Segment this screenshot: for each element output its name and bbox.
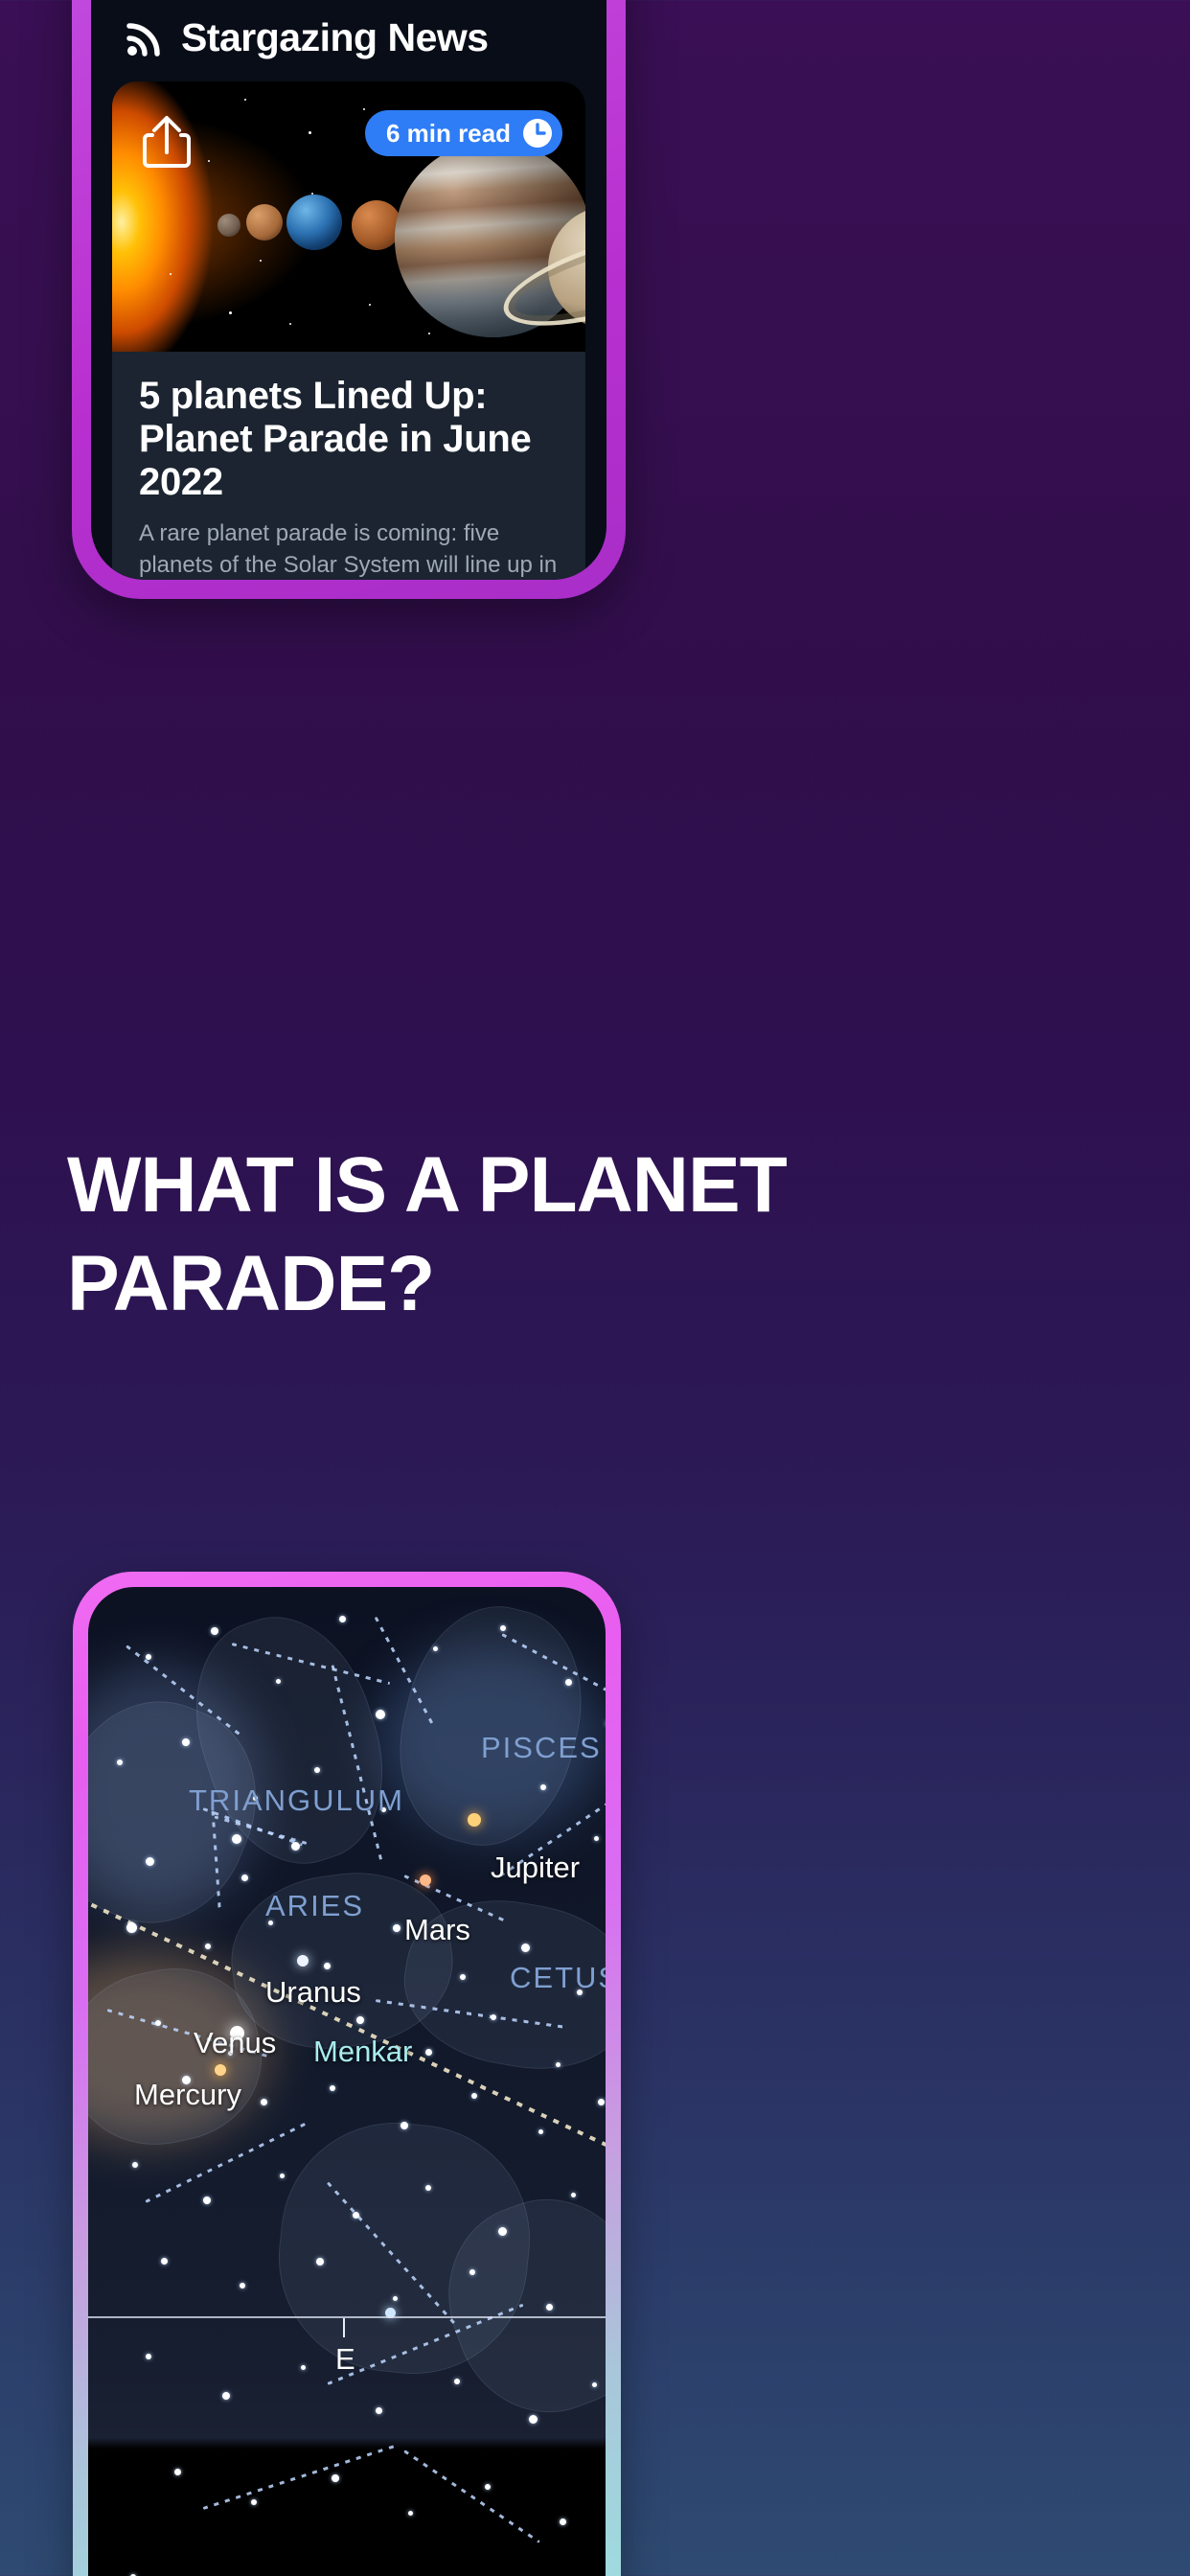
planet-point-mercury [215, 2064, 226, 2076]
planet-point-mars [420, 1874, 431, 1886]
sky-map[interactable]: PISCES TRIANGULUM ARIES CETUS Jupiter Ma… [88, 1587, 606, 2576]
read-time-badge: 6 min read [365, 110, 562, 156]
article-title: 5 planets Lined Up: Planet Parade in Jun… [139, 375, 559, 503]
phone-mockup-skymap: PISCES TRIANGULUM ARIES CETUS Jupiter Ma… [73, 1572, 621, 2576]
constellation-label-cetus: CETUS [510, 1961, 606, 1995]
clock-icon [522, 118, 553, 149]
phone-screen-news: Stargazing News [91, 0, 606, 580]
phone-mockup-news: Stargazing News [72, 0, 626, 599]
planet-label-mercury: Mercury [134, 2078, 241, 2112]
planet-label-mars: Mars [404, 1913, 470, 1947]
rss-icon [124, 17, 166, 59]
horizon-line [88, 2316, 606, 2318]
article-card[interactable]: 6 min read 5 planets Lined Up: Planet Pa… [112, 81, 585, 580]
news-header: Stargazing News [112, 0, 585, 81]
constellation-label-aries: ARIES [265, 1889, 364, 1923]
section-heading-line2: PARADE? [67, 1234, 1121, 1333]
planet-point-uranus [297, 1955, 309, 1966]
section-heading-line1: WHAT IS A PLANET [67, 1136, 1121, 1234]
read-time-label: 6 min read [386, 119, 511, 149]
planet-label-uranus: Uranus [265, 1975, 361, 2010]
star-label-menkar: Menkar [313, 2035, 412, 2069]
share-icon[interactable] [143, 114, 191, 168]
planet-venus [246, 204, 283, 241]
planet-earth [286, 195, 342, 250]
cardinal-label-e: E [335, 2342, 355, 2377]
article-hero-image: 6 min read [112, 81, 585, 352]
article-description: A rare planet parade is coming: five pla… [139, 518, 559, 580]
planet-point-jupiter [468, 1813, 481, 1827]
news-title: Stargazing News [181, 15, 489, 60]
section-heading: WHAT IS A PLANET PARADE? [67, 1136, 1121, 1334]
article-body: 5 planets Lined Up: Planet Parade in Jun… [112, 352, 585, 580]
planet-mercury [217, 214, 240, 237]
cardinal-tick-e [343, 2318, 345, 2337]
constellation-label-triangulum: TRIANGULUM [189, 1783, 404, 1818]
phone-screen-skymap: PISCES TRIANGULUM ARIES CETUS Jupiter Ma… [88, 1587, 606, 2576]
planet-label-venus: Venus [194, 2026, 276, 2060]
planet-label-jupiter: Jupiter [491, 1851, 580, 1885]
constellation-label-pisces: PISCES [481, 1731, 602, 1765]
